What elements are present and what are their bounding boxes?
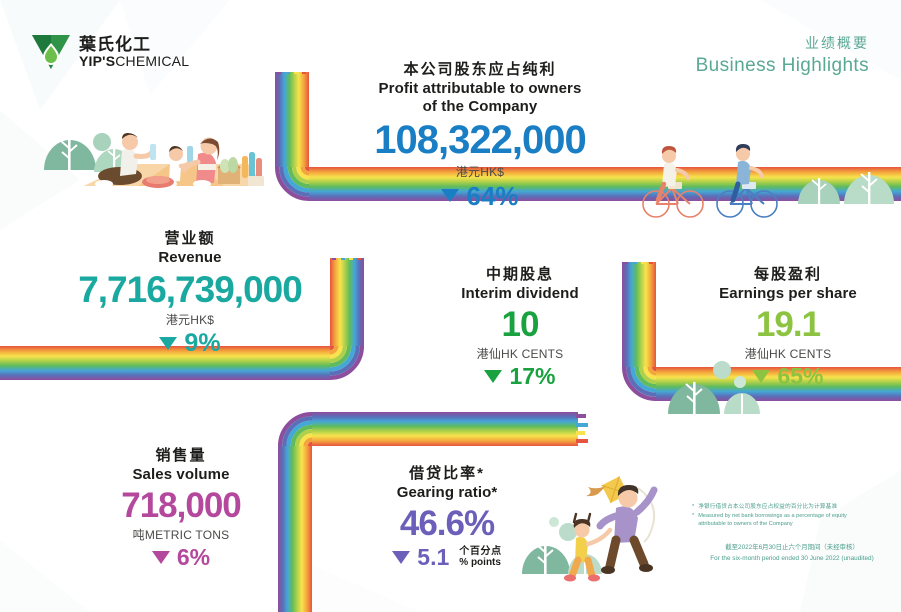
metric-label-en-line2: of the Company — [346, 98, 614, 116]
company-logo: 葉氏化工 YIP'SCHEMICAL — [30, 32, 189, 72]
metric-label-en-line1: Revenue — [48, 249, 332, 267]
metric-label-cn: 销售量 — [72, 446, 290, 466]
period-cn: 截至2022年6月30日止六个月期间（未经审核） — [692, 543, 892, 554]
metric-label-en-line1: Interim dividend — [425, 285, 615, 303]
metric-sales-volume: 销售量 Sales volume 718,000 吨METRIC TONS 6% — [72, 446, 290, 569]
footnote-text-en-line1: Measured by net bank borrowings as a per… — [698, 513, 847, 519]
arrow-down-icon — [484, 370, 502, 383]
footnote-text-en: Measured by net bank borrowings as a per… — [698, 512, 847, 529]
metric-label-en-line1: Gearing ratio* — [352, 484, 542, 502]
arrow-down-icon — [159, 337, 177, 350]
metric-delta: 6% — [152, 546, 210, 569]
metric-profit-attributable: 本公司股东应占纯利 Profit attributable to owners … — [346, 60, 614, 209]
metric-gearing-ratio: 借贷比率* Gearing ratio* 46.6% 5.1 个百分点 % po… — [352, 464, 542, 569]
tree-cluster-top-right — [796, 148, 898, 210]
footnote-star: * — [692, 503, 694, 512]
metric-delta: 5.1 个百分点 % points — [392, 546, 501, 569]
metric-label-en-line1: Profit attributable to owners — [346, 80, 614, 98]
metric-label-en-line1: Sales volume — [72, 466, 290, 484]
reporting-period: 截至2022年6月30日止六个月期间（未经审核） For the six-mon… — [692, 543, 892, 565]
metric-delta-value: 9% — [184, 331, 220, 356]
arrow-down-icon — [152, 551, 170, 564]
metric-value: 718,000 — [72, 488, 290, 524]
metric-unit: 吨METRIC TONS — [72, 526, 290, 543]
title-cn: 业绩概要 — [696, 33, 869, 53]
metric-delta-value: 5.1 — [417, 546, 449, 569]
metric-delta-value: 17% — [509, 365, 555, 388]
arrow-down-icon — [392, 551, 410, 564]
arrow-down-icon — [752, 370, 770, 383]
footnote-row-cn: * 净银行借贷占本公司股东应占权益的百分比为计算基准 — [692, 503, 892, 512]
metric-unit: 港元HK$ — [48, 311, 332, 328]
footnote-text-cn: 净银行借贷占本公司股东应占权益的百分比为计算基准 — [698, 503, 837, 512]
metric-label-cn: 本公司股东应占纯利 — [346, 60, 614, 80]
footnote-block: * 净银行借贷占本公司股东应占权益的百分比为计算基准 * Measured by… — [692, 503, 892, 565]
delta-unit-en: % points — [459, 557, 501, 569]
metric-interim-dividend: 中期股息 Interim dividend 10 港仙HK CENTS 17% — [425, 265, 615, 388]
metric-label-en-line1: Earnings per share — [692, 285, 884, 303]
metric-value: 10 — [425, 307, 615, 343]
metric-delta: 9% — [159, 331, 220, 356]
arrow-down-icon — [441, 189, 459, 202]
period-en: For the six-month period ended 30 June 2… — [692, 554, 892, 565]
metric-label-cn: 借贷比率* — [352, 464, 542, 484]
metric-delta-value: 6% — [177, 546, 210, 569]
footnote-text-en-line2: attributable to owners of the Company — [698, 521, 793, 527]
metric-delta-value: 65% — [777, 365, 823, 388]
logo-text-en-rest: CHEMICAL — [115, 53, 189, 69]
metric-delta: 64% — [441, 183, 518, 209]
footnote-star-en: * — [692, 512, 694, 529]
metric-unit: 港仙HK CENTS — [692, 345, 884, 362]
footnote-row-en: * Measured by net bank borrowings as a p… — [692, 512, 892, 529]
metric-label-cn: 中期股息 — [425, 265, 615, 285]
metric-value: 7,716,739,000 — [48, 271, 332, 309]
picnic-family-scene — [78, 120, 268, 200]
yips-triangle-drop-logo — [30, 32, 72, 72]
delta-unit-cn: 个百分点 — [459, 546, 501, 558]
logo-text-cn: 葉氏化工 — [79, 36, 189, 54]
metric-delta-value: 64% — [466, 183, 518, 209]
metric-delta: 17% — [484, 365, 555, 388]
metric-delta: 65% — [752, 365, 823, 388]
business-highlights-title: 业绩概要 Business Highlights — [696, 33, 869, 77]
title-en: Business Highlights — [696, 55, 869, 77]
metric-label-cn: 每股盈利 — [692, 265, 884, 285]
metric-delta-unit: 个百分点 % points — [459, 546, 501, 569]
cyclists-scene — [634, 140, 794, 218]
logo-wordmark: 葉氏化工 YIP'SCHEMICAL — [79, 36, 189, 69]
metric-unit: 港仙HK CENTS — [425, 345, 615, 362]
metric-value: 108,322,000 — [346, 120, 614, 162]
metric-earnings-per-share: 每股盈利 Earnings per share 19.1 港仙HK CENTS … — [692, 265, 884, 388]
metric-revenue: 营业额 Revenue 7,716,739,000 港元HK$ 9% — [48, 229, 332, 356]
metric-value: 46.6% — [352, 506, 542, 542]
infographic-page: 葉氏化工 YIP'SCHEMICAL 业绩概要 Business Highlig… — [0, 0, 901, 612]
logo-text-en: YIP'SCHEMICAL — [79, 54, 189, 69]
metric-unit: 港元HK$ — [346, 163, 614, 180]
logo-text-en-bold: YIP'S — [79, 53, 115, 69]
metric-value: 19.1 — [692, 307, 884, 343]
metric-label-cn: 营业额 — [48, 229, 332, 249]
